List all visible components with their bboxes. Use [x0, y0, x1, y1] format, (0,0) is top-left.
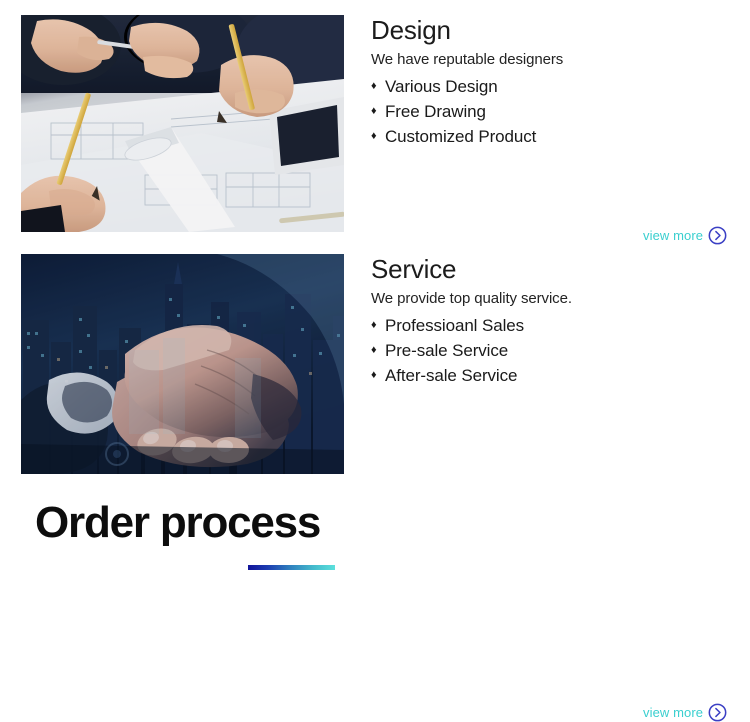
diamond-bullet-icon: ♦: [371, 363, 377, 388]
diamond-bullet-icon: ♦: [371, 338, 377, 363]
product-detail-page: Design We have reputable designers ♦ Var…: [0, 0, 750, 584]
design-photo-illustration: [21, 15, 344, 232]
feature-block-design: Design We have reputable designers ♦ Var…: [0, 15, 750, 233]
view-more-label: view more: [643, 705, 703, 720]
list-item: ♦ Pre-sale Service: [371, 338, 742, 363]
feature-block-service: Service We provide top quality service. …: [0, 254, 750, 474]
order-process-section: Order process: [35, 495, 435, 551]
design-photo: [21, 15, 344, 232]
design-copy: Design We have reputable designers ♦ Var…: [371, 15, 742, 149]
design-subtitle: We have reputable designers: [371, 49, 742, 70]
view-more-link-service[interactable]: view more: [643, 703, 727, 722]
design-title: Design: [371, 15, 742, 45]
diamond-bullet-icon: ♦: [371, 124, 377, 149]
list-item-label: Free Drawing: [385, 102, 486, 121]
heading-gradient-rule: [248, 565, 335, 570]
circle-chevron-right-icon: [708, 703, 727, 722]
service-title: Service: [371, 254, 742, 284]
service-photo: [21, 254, 344, 474]
list-item-label: Professioanl Sales: [385, 316, 524, 335]
list-item-label: After-sale Service: [385, 366, 517, 385]
page-title: Order process: [35, 495, 435, 551]
service-feature-list: ♦ Professioanl Sales ♦ Pre-sale Service …: [371, 313, 742, 388]
service-subtitle: We provide top quality service.: [371, 288, 742, 309]
list-item: ♦ Customized Product: [371, 124, 742, 149]
circle-chevron-right-icon: [708, 226, 727, 245]
diamond-bullet-icon: ♦: [371, 313, 377, 338]
view-more-label: view more: [643, 228, 703, 243]
list-item: ♦ Free Drawing: [371, 99, 742, 124]
list-item: ♦ Various Design: [371, 74, 742, 99]
design-feature-list: ♦ Various Design ♦ Free Drawing ♦ Custom…: [371, 74, 742, 149]
list-item-label: Pre-sale Service: [385, 341, 508, 360]
list-item-label: Customized Product: [385, 127, 536, 146]
diamond-bullet-icon: ♦: [371, 74, 377, 99]
view-more-link-design[interactable]: view more: [643, 226, 727, 245]
list-item: ♦ Professioanl Sales: [371, 313, 742, 338]
service-photo-illustration: [21, 254, 344, 474]
service-copy: Service We provide top quality service. …: [371, 254, 742, 388]
list-item-label: Various Design: [385, 77, 498, 96]
diamond-bullet-icon: ♦: [371, 99, 377, 124]
list-item: ♦ After-sale Service: [371, 363, 742, 388]
